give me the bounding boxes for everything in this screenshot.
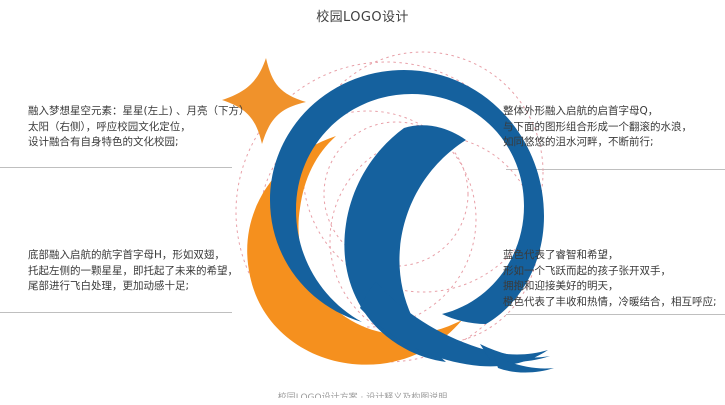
note-line: 底部融入启航的航字首字母H，形如双翅， xyxy=(28,248,238,264)
divider-left-top xyxy=(0,167,232,168)
campus-logo-graphic xyxy=(218,44,558,384)
note-line: 蓝色代表了睿智和希望， xyxy=(503,248,717,264)
note-line: 与下面的图形组合形成一个翻滚的水浪， xyxy=(503,120,692,136)
note-line: 尾部进行飞白处理，更加动感十足; xyxy=(28,279,238,295)
note-bottom-left: 底部融入启航的航字首字母H，形如双翅， 托起左侧的一颗星星，即托起了未来的希望，… xyxy=(28,248,238,295)
note-line: 如同悠悠的沮水河畔，不断前行; xyxy=(503,135,692,151)
note-line: 整体外形融入启航的启首字母Q， xyxy=(503,104,692,120)
note-top-right: 整体外形融入启航的启首字母Q， 与下面的图形组合形成一个翻滚的水浪， 如同悠悠的… xyxy=(503,104,692,151)
note-bottom-right: 蓝色代表了睿智和希望， 形如一个飞跃而起的孩子张开双手， 拥抱和迎接美好的明天，… xyxy=(503,248,717,310)
note-line: 橙色代表了丰收和热情，冷暖结合，相互呼应; xyxy=(503,295,717,311)
page-title: 校园LOGO设计 xyxy=(0,9,725,27)
divider-left-bottom xyxy=(0,312,232,313)
note-line: 托起左侧的一颗星星，即托起了未来的希望， xyxy=(28,264,238,280)
note-line: 拥抱和迎接美好的明天， xyxy=(503,279,717,295)
slide-canvas: 校园LOGO设计 xyxy=(0,0,725,405)
note-line: 形如一个飞跃而起的孩子张开双手， xyxy=(503,264,717,280)
note-line: 设计融合有自身特色的文化校园; xyxy=(28,135,250,151)
note-top-left: 融入梦想星空元素：星星(左上) 、月亮（下方） 太阳（右侧），呼应校园文化定位，… xyxy=(28,104,250,151)
footer-caption: 校园LOGO设计方案 · 设计释义及构图说明 xyxy=(0,392,725,398)
note-line: 融入梦想星空元素：星星(左上) 、月亮（下方） xyxy=(28,104,250,120)
note-line: 太阳（右侧），呼应校园文化定位， xyxy=(28,120,250,136)
